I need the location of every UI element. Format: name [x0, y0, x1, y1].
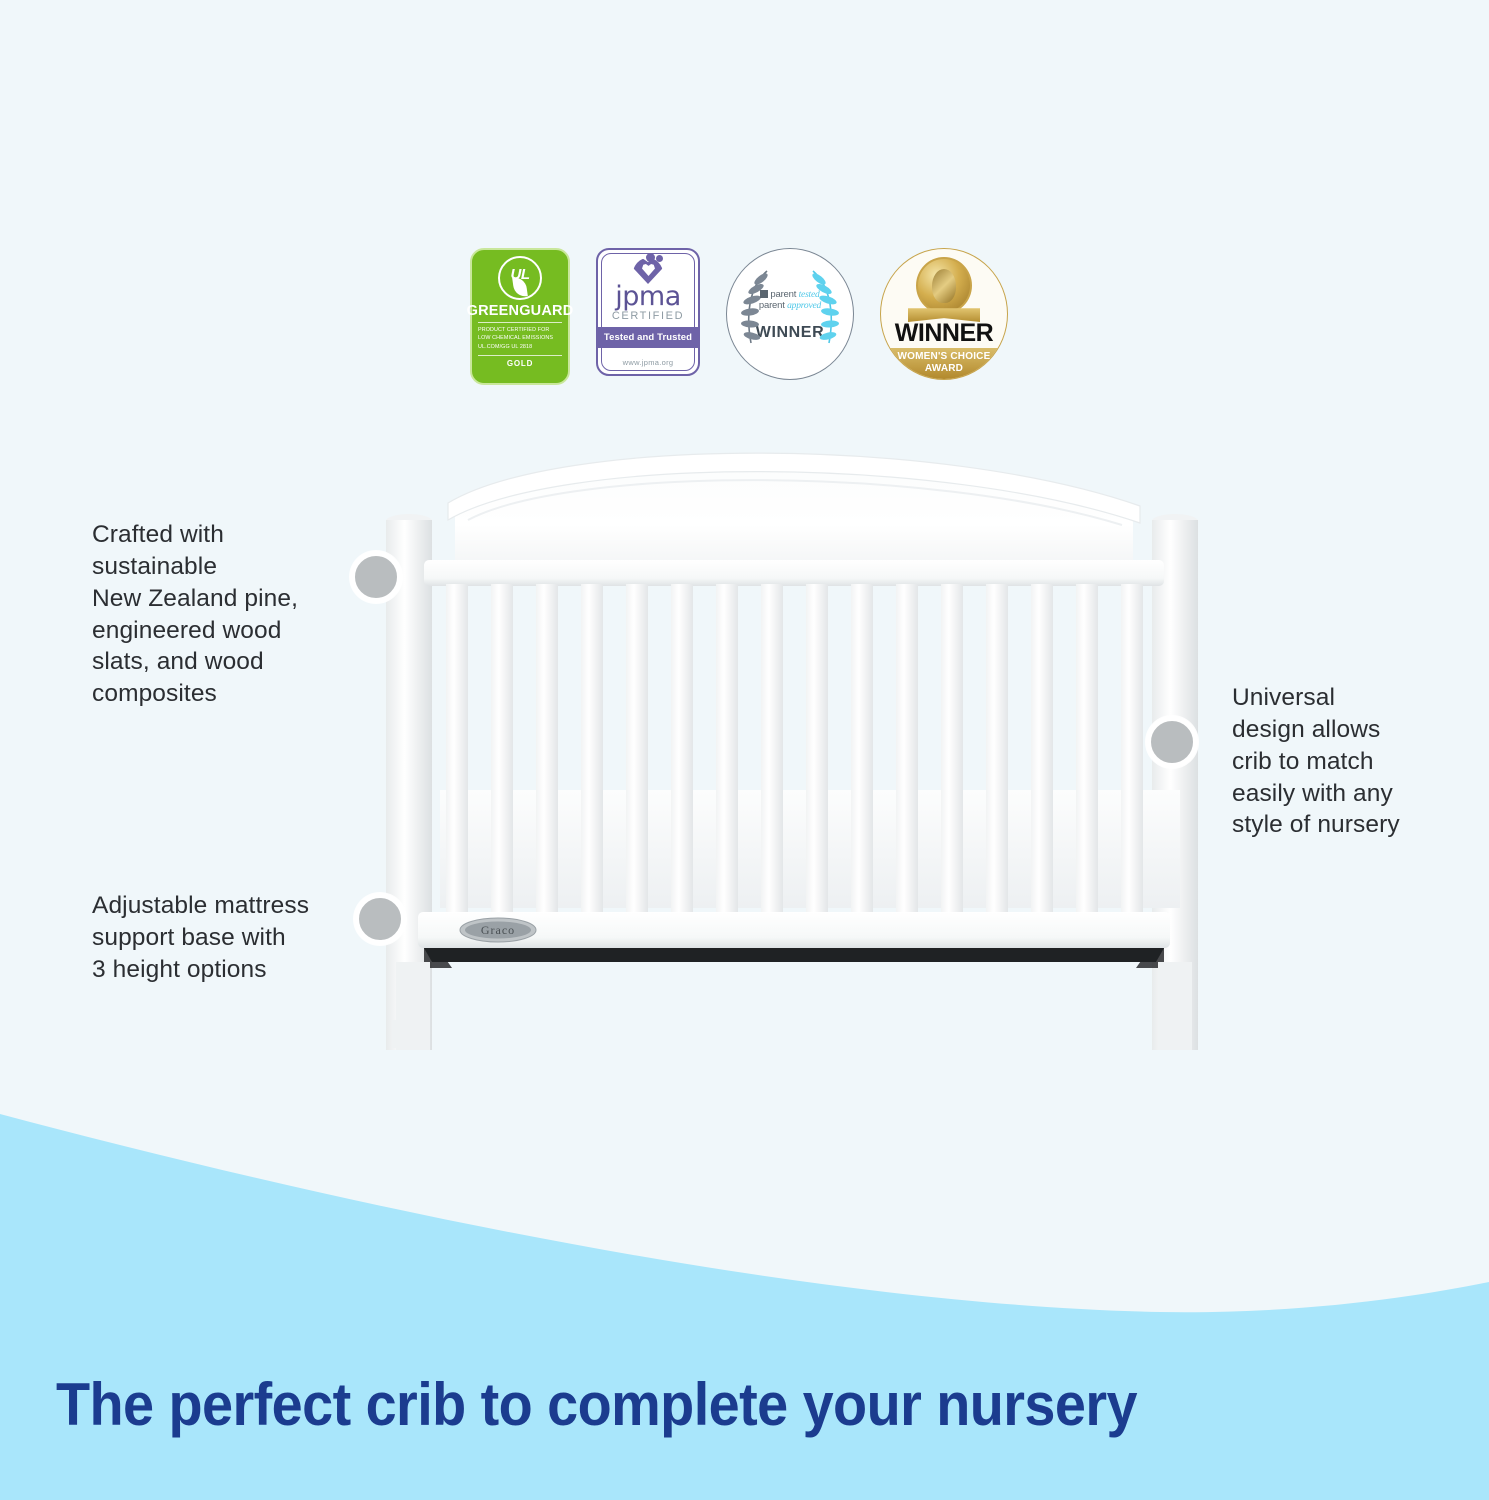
callout-universal-text: Universal design allows crib to match ea… [1232, 682, 1444, 841]
infographic-page: UL GREENGUARD PRODUCT CERTIFIED FOR LOW … [0, 0, 1489, 1500]
jpma-banner: Tested and Trusted [598, 327, 698, 348]
crib-base-shadow [424, 948, 1164, 962]
callout-dot-universal[interactable] [1146, 716, 1198, 768]
crib-left-leg [396, 962, 430, 1050]
crib-front-top-rail [424, 560, 1164, 586]
callout-material-text: Crafted with sustainable New Zealand pin… [92, 519, 354, 710]
crib-right-leg [1158, 962, 1192, 1050]
callout-dot-material[interactable] [350, 551, 402, 603]
callout-dot-mattress[interactable] [354, 893, 406, 945]
callout-mattress-text: Adjustable mattress support base with 3 … [92, 890, 360, 986]
page-headline: The perfect crib to complete your nurser… [56, 1370, 1302, 1439]
graco-brand-plate: Graco [460, 918, 536, 942]
svg-text:Graco: Graco [481, 923, 515, 937]
